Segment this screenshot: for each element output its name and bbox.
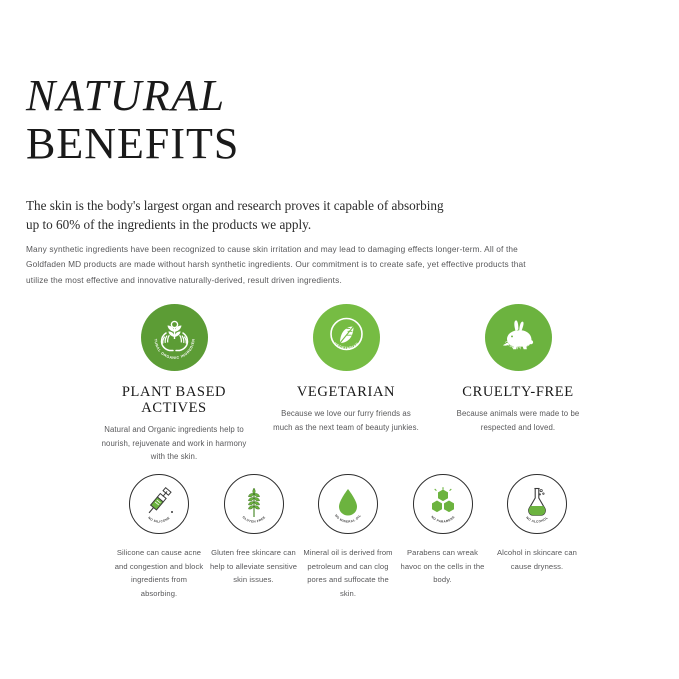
svg-text:NATURAL ORGANIC INGREDIENTS: NATURAL ORGANIC INGREDIENTS xyxy=(141,304,196,360)
badge-cruelty-free: CRUELTY FREE CRUELTY-FREE Because animal… xyxy=(440,304,596,464)
gluten-free-caption: Gluten free skincare can help to allevia… xyxy=(209,546,299,587)
wheat-icon: GLUTEN FREE xyxy=(225,475,283,533)
no-alcohol-circle: NO ALCOHOL xyxy=(507,474,567,534)
rabbit-icon: CRUELTY FREE xyxy=(485,304,552,371)
hands-holding-plant-icon: NATURAL ORGANIC INGREDIENTS xyxy=(141,304,208,371)
svg-text:NO SILICONE: NO SILICONE xyxy=(147,516,171,524)
page-title-line-1: NATURAL xyxy=(26,74,239,118)
cruelty-free-description: Because animals were made to be respecte… xyxy=(443,407,593,434)
vegetarian-description: Because we love our furry friends as muc… xyxy=(271,407,421,434)
plant-based-heading: PLANT BASED ACTIVES xyxy=(96,384,252,416)
free-from-gluten-free: GLUTEN FREE Gluten free skincare can hel… xyxy=(207,474,301,601)
vegetarian-badge-circle: VEGETARIAN xyxy=(313,304,380,371)
free-from-no-parabens: NO PARABENS Parabens can wreak havoc on … xyxy=(396,474,490,601)
badge-vegetarian: VEGETARIAN VEGETARIAN Because we love ou… xyxy=(268,304,424,464)
plant-based-description: Natural and Organic ingredients help to … xyxy=(99,423,249,463)
free-from-icons-row: NO SILICONE Silicone can cause acne and … xyxy=(112,474,584,601)
page-title-line-2: BENEFITS xyxy=(26,122,239,166)
intro-paragraph: Many synthetic ingredients have been rec… xyxy=(26,242,534,288)
leaf-icon: VEGETARIAN xyxy=(313,304,380,371)
no-parabens-badge-text: NO PARABENS xyxy=(430,515,455,524)
no-mineral-oil-caption: Mineral oil is derived from petroleum an… xyxy=(303,546,393,601)
cruelty-free-heading: CRUELTY-FREE xyxy=(462,384,573,400)
droplet-icon: NO MINERAL OIL xyxy=(319,475,377,533)
vegetarian-badge-text: VEGETARIAN xyxy=(333,342,359,351)
svg-text:NO PARABENS: NO PARABENS xyxy=(430,515,455,524)
no-silicone-circle: NO SILICONE xyxy=(129,474,189,534)
gluten-free-circle: GLUTEN FREE xyxy=(224,474,284,534)
free-from-no-alcohol: NO ALCOHOL Alcohol in skincare can cause… xyxy=(490,474,584,601)
no-parabens-caption: Parabens can wreak havoc on the cells in… xyxy=(398,546,488,587)
free-from-no-mineral-oil: NO MINERAL OIL Mineral oil is derived fr… xyxy=(301,474,395,601)
natural-benefits-page: NATURAL BENEFITS The skin is the body's … xyxy=(0,0,679,679)
molecule-hexagons-icon: NO PARABENS xyxy=(414,475,472,533)
no-silicone-badge-text: NO SILICONE xyxy=(147,516,171,524)
no-silicone-caption: Silicone can cause acne and congestion a… xyxy=(114,546,204,601)
badge-plant-based-actives: NATURAL ORGANIC INGREDIENTS PLANT BASED … xyxy=(96,304,252,464)
intro-lead-text: The skin is the body's largest organ and… xyxy=(26,196,446,234)
plant-based-badge-text: NATURAL ORGANIC INGREDIENTS xyxy=(141,304,196,360)
svg-text:VEGETARIAN: VEGETARIAN xyxy=(333,342,359,351)
no-mineral-oil-circle: NO MINERAL OIL xyxy=(318,474,378,534)
cruelty-free-badge-circle: CRUELTY FREE xyxy=(485,304,552,371)
svg-text:NO ALCOHOL: NO ALCOHOL xyxy=(525,516,549,524)
page-title: NATURAL BENEFITS xyxy=(26,74,239,166)
primary-badges-row: NATURAL ORGANIC INGREDIENTS PLANT BASED … xyxy=(96,304,596,464)
no-alcohol-caption: Alcohol in skincare can cause dryness. xyxy=(492,546,582,573)
free-from-no-silicone: NO SILICONE Silicone can cause acne and … xyxy=(112,474,206,601)
no-parabens-circle: NO PARABENS xyxy=(413,474,473,534)
flask-icon: NO ALCOHOL xyxy=(508,475,566,533)
no-alcohol-badge-text: NO ALCOHOL xyxy=(525,516,549,524)
vegetarian-heading: VEGETARIAN xyxy=(297,384,395,400)
syringe-icon: NO SILICONE xyxy=(130,475,188,533)
plant-based-badge-circle: NATURAL ORGANIC INGREDIENTS xyxy=(141,304,208,371)
